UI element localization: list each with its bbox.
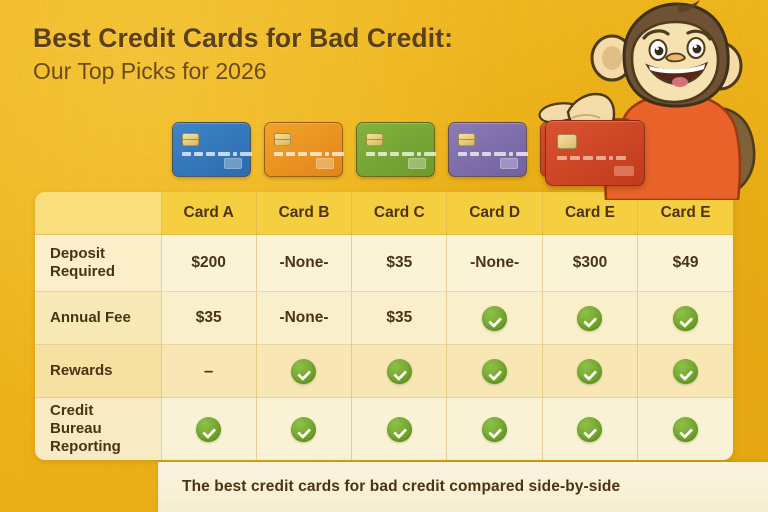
cell-bureau-card-a bbox=[161, 398, 256, 461]
check-icon bbox=[577, 359, 602, 384]
caption-bar: The best credit cards for bad credit com… bbox=[158, 462, 768, 512]
cell-deposit-card-e: $300 bbox=[542, 235, 637, 292]
table-row: Credit Bureau Reporting bbox=[35, 398, 733, 461]
check-icon bbox=[673, 417, 698, 442]
card-signature-strip bbox=[316, 158, 334, 169]
cell-annualfee-card-e bbox=[542, 292, 637, 345]
cell-deposit-card-c: $35 bbox=[352, 235, 447, 292]
check-icon bbox=[387, 359, 412, 384]
table-row: Rewards – bbox=[35, 345, 733, 398]
check-icon bbox=[291, 417, 316, 442]
card-signature-strip bbox=[500, 158, 518, 169]
cell-deposit-card-b: -None- bbox=[256, 235, 351, 292]
row-label-credit-bureau-reporting: Credit Bureau Reporting bbox=[35, 398, 161, 461]
credit-card-blue-icon bbox=[172, 122, 251, 177]
check-icon bbox=[482, 417, 507, 442]
column-header-card-c: Card C bbox=[352, 192, 447, 235]
dash-icon: – bbox=[204, 361, 213, 381]
check-icon bbox=[577, 417, 602, 442]
row-label-deposit-required: Deposit Required bbox=[35, 235, 161, 292]
check-icon bbox=[196, 417, 221, 442]
cell-bureau-card-c bbox=[352, 398, 447, 461]
check-icon bbox=[387, 417, 412, 442]
row-label-line: Credit bbox=[50, 402, 93, 419]
check-icon bbox=[482, 306, 507, 331]
row-label-line: Bureau bbox=[50, 420, 102, 437]
cell-annualfee-card-b: -None- bbox=[256, 292, 351, 345]
cell-rewards-card-d bbox=[447, 345, 542, 398]
cell-annualfee-card-e-2 bbox=[638, 292, 733, 345]
card-signature-strip bbox=[614, 166, 634, 176]
table-body: Deposit Required $200 -None- $35 -None- … bbox=[35, 235, 733, 461]
card-number-marks bbox=[557, 156, 626, 160]
row-label-line: Deposit bbox=[50, 245, 105, 262]
cell-annualfee-card-c: $35 bbox=[352, 292, 447, 345]
table-row: Annual Fee $35 -None- $35 bbox=[35, 292, 733, 345]
card-chip-icon bbox=[274, 133, 291, 146]
cell-rewards-card-e-2 bbox=[638, 345, 733, 398]
column-header-card-a: Card A bbox=[161, 192, 256, 235]
cell-bureau-card-b bbox=[256, 398, 351, 461]
cell-bureau-card-e bbox=[542, 398, 637, 461]
row-label-line: Required bbox=[50, 263, 115, 280]
card-signature-strip bbox=[224, 158, 242, 169]
held-credit-card-red bbox=[545, 120, 645, 186]
cell-deposit-card-d: -None- bbox=[447, 235, 542, 292]
card-chip-icon bbox=[182, 133, 199, 146]
credit-card-green-icon bbox=[356, 122, 435, 177]
page-subtitle: Our Top Picks for 2026 bbox=[33, 58, 453, 84]
cell-bureau-card-e-2 bbox=[638, 398, 733, 461]
check-icon bbox=[673, 306, 698, 331]
card-number-marks bbox=[182, 152, 252, 156]
card-number-marks bbox=[458, 152, 528, 156]
column-header-card-b: Card B bbox=[256, 192, 351, 235]
check-icon bbox=[577, 306, 602, 331]
caption-text: The best credit cards for bad credit com… bbox=[158, 478, 620, 496]
header-block: Best Credit Cards for Bad Credit: Our To… bbox=[33, 24, 453, 85]
row-label-line: Reporting bbox=[50, 438, 121, 455]
card-chip-icon bbox=[366, 133, 383, 146]
cell-rewards-card-e bbox=[542, 345, 637, 398]
cell-rewards-card-c bbox=[352, 345, 447, 398]
credit-card-purple-icon bbox=[448, 122, 527, 177]
table-row: Deposit Required $200 -None- $35 -None- … bbox=[35, 235, 733, 292]
row-label-rewards: Rewards bbox=[35, 345, 161, 398]
check-icon bbox=[673, 359, 698, 384]
cell-annualfee-card-a: $35 bbox=[161, 292, 256, 345]
credit-card-comparison-table: Card A Card B Card C Card D Card E Card … bbox=[35, 192, 733, 460]
cell-deposit-card-a: $200 bbox=[161, 235, 256, 292]
page-background: Best Credit Cards for Bad Credit: Our To… bbox=[0, 0, 768, 512]
table-corner-cell bbox=[35, 192, 161, 235]
card-chip-icon bbox=[458, 133, 475, 146]
card-number-marks bbox=[366, 152, 436, 156]
credit-card-orange-icon bbox=[264, 122, 343, 177]
cell-rewards-card-b bbox=[256, 345, 351, 398]
row-label-annual-fee: Annual Fee bbox=[35, 292, 161, 345]
comparison-table: Card A Card B Card C Card D Card E Card … bbox=[35, 192, 733, 460]
cell-deposit-card-e-2: $49 bbox=[638, 235, 733, 292]
cell-bureau-card-d bbox=[447, 398, 542, 461]
page-title: Best Credit Cards for Bad Credit: bbox=[33, 24, 453, 53]
card-number-marks bbox=[274, 152, 344, 156]
card-chip-icon bbox=[557, 134, 577, 149]
check-icon bbox=[482, 359, 507, 384]
card-signature-strip bbox=[408, 158, 426, 169]
cell-rewards-card-a: – bbox=[161, 345, 256, 398]
cell-annualfee-card-d bbox=[447, 292, 542, 345]
check-icon bbox=[291, 359, 316, 384]
